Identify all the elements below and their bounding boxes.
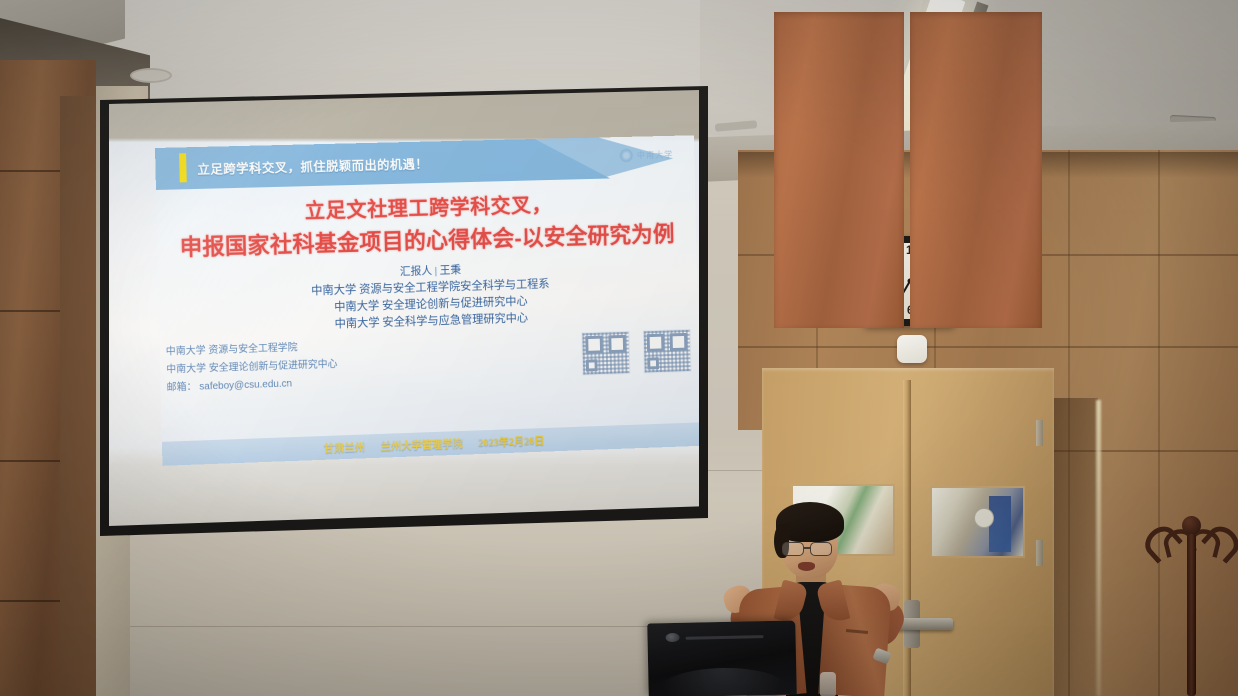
university-logo-text: 中南大学: [637, 148, 674, 161]
door-right[interactable]: [910, 12, 1042, 328]
door-hinge-icon: [1036, 420, 1043, 446]
laptop-hinge-bar: [686, 635, 764, 640]
glasses-icon: [810, 542, 832, 556]
glasses-icon: [782, 542, 804, 556]
presentation-slide: 立足跨学科交叉，抓住脱颖而出的机遇！ 中南大学 立足文社理工跨学科交叉， 申报国…: [155, 135, 699, 466]
coat-hook-icon: [1201, 520, 1238, 564]
footer-venue: 兰州大学管理学院: [380, 435, 462, 453]
ceiling-speaker-icon: [130, 68, 172, 83]
university-logo: 中南大学: [619, 148, 673, 163]
laptop-device[interactable]: [647, 620, 797, 696]
coat-rack-finial: [1182, 516, 1201, 535]
slide-contact-block: 中南大学 资源与安全工程学院 中南大学 安全理论创新与促进研究中心 邮箱： sa…: [166, 338, 338, 397]
wall-right-shadow: [1054, 398, 1098, 696]
slide-title: 立足文社理工跨学科交叉， 申报国家社科基金项目的心得体会-以安全研究为例: [156, 184, 696, 263]
presenter-mouth: [798, 562, 815, 571]
desk-object: [820, 672, 836, 696]
slide-footer: 甘肃兰州 兰州大学管理学院 2023年2月26日: [162, 422, 699, 465]
corridor-poster: [989, 496, 1011, 552]
laptop-reflection: [656, 667, 789, 696]
coat-rack-pole: [1187, 534, 1196, 696]
footer-date: 2023年2月26日: [478, 432, 544, 449]
door-hinge-icon: [1036, 540, 1043, 566]
corridor-sign-icon: [974, 508, 994, 528]
qr-code-icon: [581, 331, 630, 376]
slide-banner-accent-bar: [179, 153, 187, 182]
door-window-right: [930, 486, 1025, 558]
wall-light-reflection: [1096, 400, 1101, 696]
footer-location: 甘肃兰州: [324, 439, 366, 455]
lecture-room-photo: 立足跨学科交叉，抓住脱颖而出的机遇！ 中南大学 立足文社理工跨学科交叉， 申报国…: [0, 0, 1238, 696]
wall-sensor-device: [897, 335, 927, 363]
university-logo-mark: [619, 148, 633, 162]
coat-rack: [1138, 490, 1238, 696]
laptop-logo-icon: [665, 633, 679, 642]
door-left[interactable]: [774, 12, 904, 328]
projected-slide-area: 立足跨学科交叉，抓住脱颖而出的机遇！ 中南大学 立足文社理工跨学科交叉， 申报国…: [155, 135, 699, 466]
qr-code-group: [581, 329, 691, 376]
projection-screen: 立足跨学科交叉，抓住脱颖而出的机遇！ 中南大学 立足文社理工跨学科交叉， 申报国…: [109, 90, 699, 526]
qr-code-icon: [643, 329, 692, 374]
glasses-bridge: [804, 547, 811, 549]
